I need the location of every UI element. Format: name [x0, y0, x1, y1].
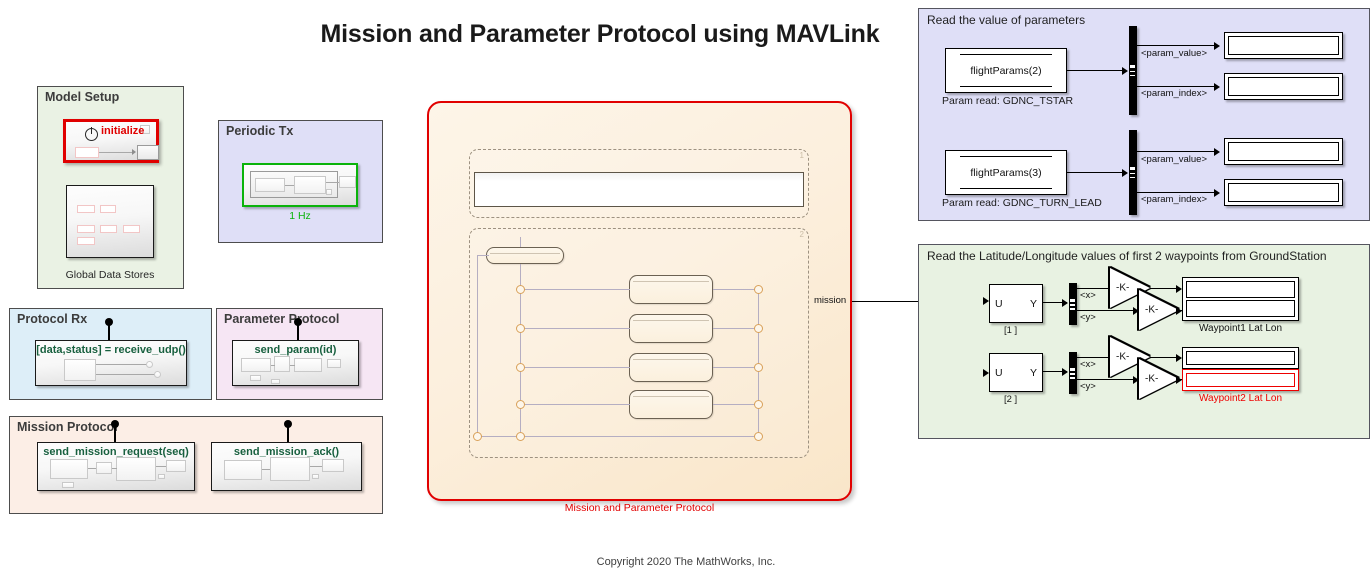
wp-row2-gain-y[interactable]: -K-: [1139, 359, 1179, 399]
param-row1-index-display[interactable]: [1224, 73, 1343, 100]
sma-mini-3: [322, 459, 344, 472]
mission-request-callout-stem: [114, 427, 116, 442]
param-row1-bus-selector[interactable]: [1129, 26, 1137, 115]
sp-wire-2: [290, 365, 295, 366]
chart-state-4[interactable]: [629, 390, 713, 419]
param-row1-bus-ports: [1130, 65, 1135, 76]
chart-junction-bottom-mid: [516, 432, 525, 441]
flight-params-3-label: flightParams(3): [970, 167, 1041, 179]
param-row2-index-display[interactable]: [1224, 179, 1343, 206]
group-model-setup-title: Model Setup: [45, 90, 119, 104]
wp-row1-selector-y: Y: [1030, 298, 1037, 310]
init-mini-out: [137, 145, 159, 160]
ptx-mini-3: [339, 176, 356, 188]
smr-wire-3: [156, 466, 166, 467]
wp-row2-selector-u: U: [995, 367, 1003, 379]
wp-row2-x-signal-label: <x>: [1080, 359, 1096, 370]
param-row1-index-arrow: [1214, 83, 1220, 91]
wp-row1-gain-y[interactable]: -K-: [1139, 290, 1179, 330]
chart-entry-stem: [520, 237, 521, 247]
sp-mini-2: [274, 356, 290, 372]
chart-subbox-2-number: 2: [800, 230, 804, 239]
global-data-stores-subsystem[interactable]: [66, 185, 154, 258]
param-row2-value-signal-label: <param_value>: [1141, 154, 1207, 165]
wp-row2-arrow-to-bus: [1062, 368, 1068, 376]
sp-mini-6: [271, 379, 280, 384]
gds-mini-1: [77, 205, 95, 213]
wp-row2-selector-block[interactable]: U Y: [989, 353, 1043, 392]
wp-row1-selector-u: U: [995, 298, 1003, 310]
flight-params-3-top-rule: [960, 156, 1051, 157]
flight-params-2-label: flightParams(2): [970, 65, 1041, 77]
chart-wire-out-3: [713, 367, 759, 368]
param-row2-line-in: [1067, 172, 1123, 173]
flight-params-2-caption: Param read: GDNC_TSTAR: [942, 95, 1073, 107]
smr-wire-1: [88, 468, 96, 469]
sma-mini-4: [312, 474, 319, 479]
group-protocol-rx-title: Protocol Rx: [17, 312, 87, 326]
wp-row2-bus-ports: [1070, 368, 1075, 379]
protocol-rx-callout-stem: [108, 325, 110, 340]
send-mission-ack-label: send_mission_ack(): [211, 446, 362, 458]
wp-row1-bus-selector[interactable]: [1069, 283, 1077, 325]
chart-wire-out-2: [713, 328, 759, 329]
gds-mini-2: [100, 205, 116, 213]
sma-wire-1: [262, 469, 270, 470]
param-row2-bus-selector[interactable]: [1129, 130, 1137, 215]
chart-junction-left-3: [516, 363, 525, 372]
flight-params-2-block[interactable]: flightParams(2): [945, 48, 1067, 93]
panel-read-waypoints-title: Read the Latitude/Longitude values of fi…: [927, 249, 1327, 263]
wp-row2-index-label: [2 ]: [1004, 394, 1017, 405]
chart-junction-left-2: [516, 324, 525, 333]
ptx-mini-2: [294, 176, 326, 194]
param-row1-arrow-in: [1122, 67, 1128, 75]
chart-state-2[interactable]: [629, 314, 713, 343]
wp-row1-y-signal-label: <y>: [1080, 312, 1096, 323]
param-row2-value-display[interactable]: [1224, 138, 1343, 165]
mission-ack-callout-stem: [287, 427, 289, 442]
mission-signal-label: mission: [814, 295, 846, 306]
group-parameter-protocol-title: Parameter Protocol: [224, 312, 339, 326]
wp-row1-display-stack[interactable]: [1182, 277, 1299, 321]
chart-junction-left-1: [516, 285, 525, 294]
chart-junction-bottom-left: [473, 432, 482, 441]
chart-caption: Mission and Parameter Protocol: [427, 502, 852, 514]
wp-row1-bus-ports: [1070, 299, 1075, 310]
group-periodic-tx-title: Periodic Tx: [226, 124, 293, 138]
chart-junction-right-3: [754, 363, 763, 372]
periodic-tx-rate-label: 1 Hz: [242, 210, 358, 222]
gds-mini-6: [77, 237, 95, 245]
wp-row1-display-lon: [1186, 300, 1295, 317]
param-row1-value-display[interactable]: [1224, 32, 1343, 59]
chart-junction-left-4: [516, 400, 525, 409]
smr-wire-2: [112, 468, 117, 469]
param-row2-arrow-in: [1122, 169, 1128, 177]
init-mini-in: [75, 147, 99, 158]
smr-mini-4: [166, 460, 186, 472]
chart-wire-in-3: [520, 367, 630, 368]
chart-wire-in-4: [520, 404, 630, 405]
chart-left-rail: [477, 256, 478, 436]
rx-mini-1: [64, 359, 96, 381]
wp-row1-display-lat: [1186, 281, 1295, 298]
param-row2-index-signal-label: <param_index>: [1141, 194, 1207, 205]
smr-mini-6: [158, 474, 165, 479]
wp-row1-y-line: [1077, 310, 1139, 311]
rx-port-1: [146, 361, 153, 368]
param-row1-value-arrow: [1214, 42, 1220, 50]
flight-params-2-top-rule: [960, 54, 1051, 55]
wp-row2-bus-selector[interactable]: [1069, 352, 1077, 394]
mission-parameter-protocol-chart[interactable]: 1 2: [427, 101, 852, 501]
sp-wire-1: [271, 365, 275, 366]
chart-wire-in-1: [520, 289, 630, 290]
wp-row2-y-signal-label: <y>: [1080, 381, 1096, 392]
panel-read-parameters-title: Read the value of parameters: [927, 13, 1085, 27]
gds-mini-5: [123, 225, 140, 233]
wp-row1-x-signal-label: <x>: [1080, 290, 1096, 301]
rx-wire-1: [96, 364, 148, 365]
param-row2-value-line: [1137, 151, 1216, 152]
group-mission-protocol-title: Mission Protocol: [17, 420, 118, 434]
chart-junction-bottom-right: [754, 432, 763, 441]
periodic-tx-subsystem[interactable]: [242, 163, 358, 207]
smr-mini-3: [116, 457, 156, 481]
rx-wire-2: [96, 374, 156, 375]
gds-mini-3: [77, 225, 95, 233]
chart-entry-link: [477, 255, 489, 256]
chart-junction-right-2: [754, 324, 763, 333]
smr-mini-2: [96, 462, 112, 474]
wp-row1-x-line: [1077, 288, 1110, 289]
param-row2-value-arrow: [1214, 148, 1220, 156]
wp-row1-index-label: [1 ]: [1004, 325, 1017, 336]
chart-wire-out-1: [713, 289, 759, 290]
ptx-wire-2: [326, 182, 340, 183]
chart-state-1[interactable]: [629, 275, 713, 304]
flight-params-2-bottom-rule: [960, 86, 1051, 87]
copyright-notice: Copyright 2020 The MathWorks, Inc.: [0, 556, 1372, 568]
wp-row1-gain-x-label: -K-: [1116, 283, 1129, 294]
sp-mini-1: [241, 358, 271, 372]
sp-mini-3: [294, 358, 322, 372]
wp-row2-display-lon[interactable]: [1182, 369, 1299, 391]
smr-mini-5: [62, 482, 74, 488]
wp-row1-arrow-to-bus: [1062, 299, 1068, 307]
init-wire: [99, 152, 133, 153]
sma-wire-2: [310, 466, 322, 467]
smr-mini-1: [50, 459, 88, 479]
wp-row2-gain-y-label: -K-: [1145, 374, 1158, 385]
wp-row2-gain-x-out: [1150, 357, 1179, 358]
send-mission-request-label: send_mission_request(seq): [37, 446, 195, 458]
chart-wide-bar: [474, 172, 804, 207]
flight-params-3-bottom-rule: [960, 188, 1051, 189]
wp-row1-gain-y-label: -K-: [1145, 305, 1158, 316]
wp-row2-selector-y: Y: [1030, 367, 1037, 379]
sma-mini-1: [224, 460, 262, 480]
receive-udp-label: [data,status] = receive_udp(): [35, 344, 187, 356]
param-row2-index-arrow: [1214, 189, 1220, 197]
send-param-label: send_param(id): [232, 344, 359, 356]
param-row2-bus-ports: [1130, 167, 1135, 178]
sp-mini-4: [327, 359, 341, 368]
parameter-protocol-callout-stem: [297, 325, 299, 340]
wp-row1-selector-block[interactable]: U Y: [989, 284, 1043, 323]
wp-row2-gain-x-label: -K-: [1116, 352, 1129, 363]
wp-row2-display-caption: Waypoint2 Lat Lon: [1182, 393, 1299, 404]
param-row1-value-signal-label: <param_value>: [1141, 48, 1207, 59]
flight-params-3-caption: Param read: GDNC_TURN_LEAD: [942, 197, 1102, 209]
rx-port-2: [154, 371, 161, 378]
power-icon: [85, 128, 98, 141]
param-row1-value-line: [1137, 45, 1216, 46]
gds-mini-4: [100, 225, 117, 233]
chart-state-3[interactable]: [629, 353, 713, 382]
wp-row2-display-lat[interactable]: [1182, 347, 1299, 369]
ptx-mini-1: [255, 178, 285, 192]
initialize-label: initialize: [101, 125, 144, 137]
wp-row1-gain-x-out: [1150, 288, 1179, 289]
flight-params-3-block[interactable]: flightParams(3): [945, 150, 1067, 195]
param-row1-line-in: [1067, 70, 1123, 71]
global-data-stores-label: Global Data Stores: [48, 269, 172, 281]
sp-mini-5: [250, 375, 261, 381]
chart-wire-out-4: [713, 404, 759, 405]
wp-row2-y-line: [1077, 379, 1139, 380]
sma-mini-2: [270, 457, 310, 481]
init-arrow: [132, 149, 136, 155]
wp-row2-x-line: [1077, 357, 1110, 358]
chart-junction-right-4: [754, 400, 763, 409]
param-row1-index-signal-label: <param_index>: [1141, 88, 1207, 99]
chart-junction-right-1: [754, 285, 763, 294]
ptx-mini-4: [326, 189, 332, 195]
chart-entry-state[interactable]: [486, 247, 564, 264]
chart-wire-in-2: [520, 328, 630, 329]
chart-subbox-1-number: 1: [800, 151, 804, 160]
wp-row1-display-caption: Waypoint1 Lat Lon: [1182, 323, 1299, 334]
